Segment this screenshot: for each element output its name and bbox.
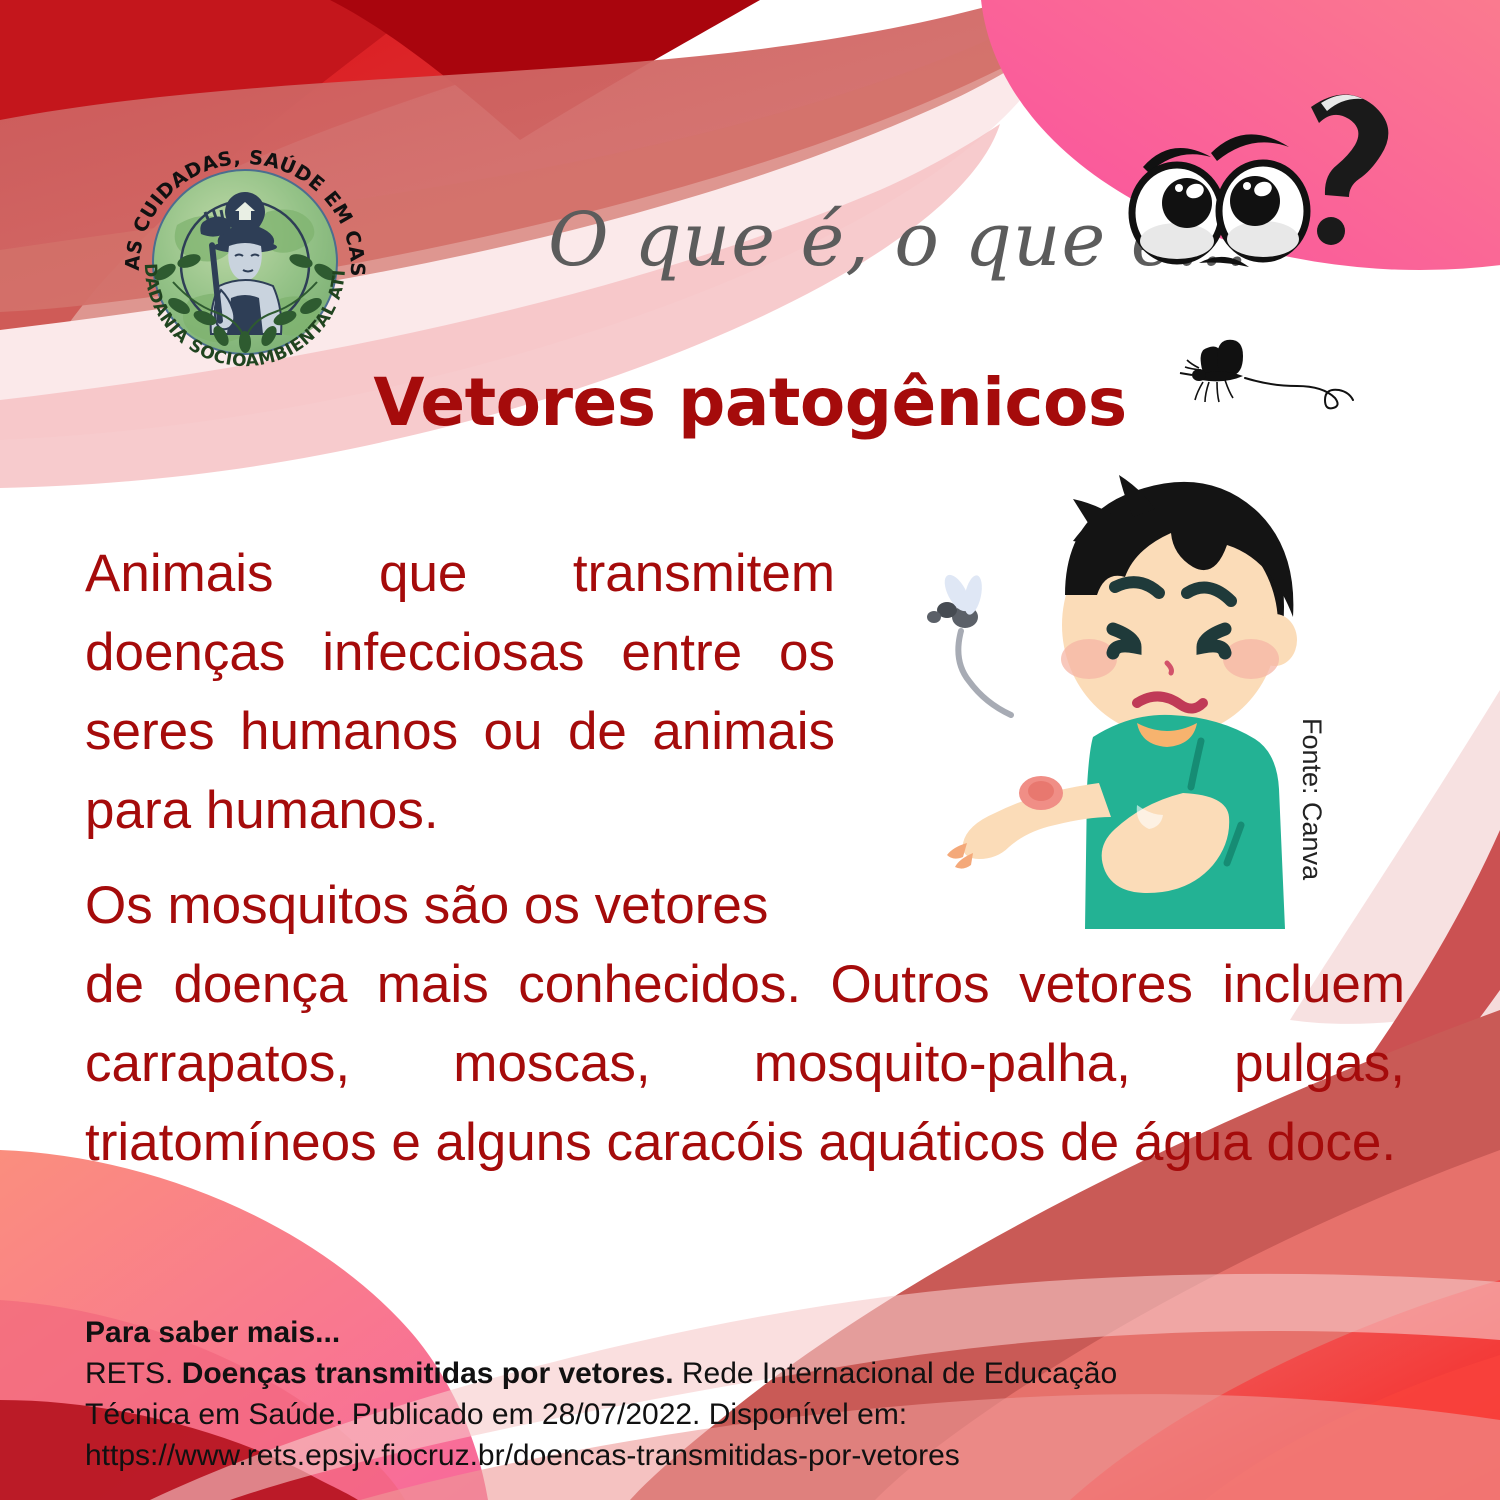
fly-icon	[927, 571, 985, 628]
mosquito-icon	[1180, 340, 1243, 382]
image-source-credit: Fonte: Canva	[1293, 718, 1327, 878]
script-headline: O que é, o que é...	[548, 185, 1208, 295]
blush-right-icon	[1223, 639, 1279, 679]
paragraph-2-lead: Os mosquitos são os vetores	[85, 866, 845, 945]
footer-reference-line-2: Técnica em Saúde. Publicado em 28/07/202…	[85, 1394, 1185, 1435]
eye-right-icon	[1219, 163, 1307, 259]
body-paragraph-1: Animais que transmitem doenças infeccios…	[85, 534, 835, 850]
footer-reference-line-1: RETS. Doenças transmitidas por vetores. …	[85, 1353, 1185, 1394]
fly-trail-icon	[958, 631, 1011, 715]
blush-left-icon	[1061, 639, 1117, 679]
frowning-mouth-icon	[1199, 257, 1249, 267]
flight-trail-icon	[1245, 378, 1353, 408]
question-mark-icon	[1311, 94, 1388, 245]
paragraph-2-rest: de doença mais conhecidos. Outros vetore…	[85, 955, 1405, 1172]
boy-eye-right-icon	[1203, 629, 1225, 653]
mosquito-silhouette-illustration	[1175, 330, 1365, 440]
footer-reference-url[interactable]: https://www.rets.epsjv.fiocruz.br/doenca…	[85, 1435, 1185, 1476]
footer-ref-title: Doenças transmitidas por vetores.	[182, 1357, 674, 1390]
footer-ref-prefix: RETS.	[85, 1357, 182, 1390]
footer-heading: Para saber mais...	[85, 1312, 1185, 1353]
footer-ref-suffix: Rede Internacional de Educação	[674, 1357, 1118, 1390]
curious-eyes-illustration	[1115, 55, 1405, 295]
boy-with-mosquito-bite-illustration	[925, 445, 1350, 935]
eye-left-icon	[1132, 165, 1222, 261]
infographic-poster: RUAS CUIDADAS, SAÚDE EM CASA! CIDADANIA …	[0, 0, 1500, 1500]
references-footer: Para saber mais... RETS. Doenças transmi…	[85, 1312, 1185, 1476]
boy-eye-left-icon	[1113, 629, 1135, 653]
eyebrow-right-icon	[1211, 134, 1289, 161]
organization-logo: RUAS CUIDADAS, SAÚDE EM CASA! CIDADANIA …	[117, 130, 373, 386]
